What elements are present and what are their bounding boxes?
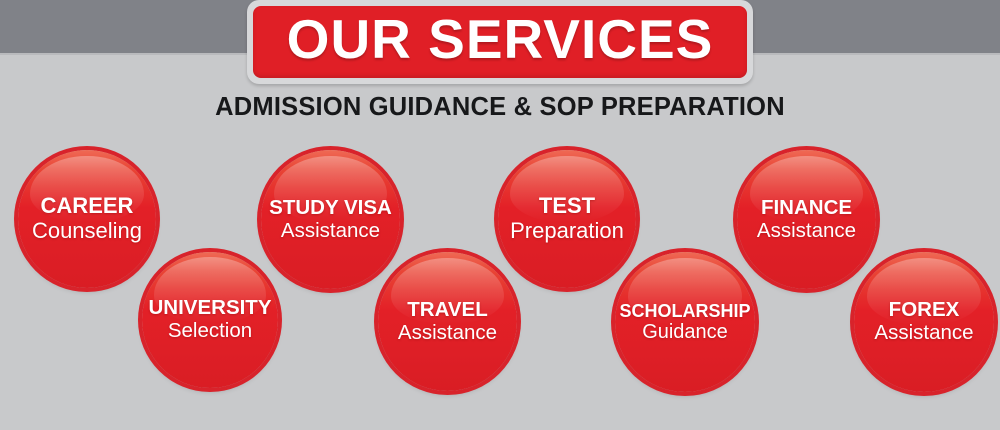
service-subtitle: Guidance <box>620 321 751 343</box>
service-title: TRAVEL <box>398 299 497 322</box>
title-plate: OUR SERVICES <box>253 6 748 78</box>
service-bubble-travel-assistance[interactable]: TRAVEL Assistance <box>378 252 517 391</box>
service-bubble-test-preparation[interactable]: TEST Preparation <box>498 150 636 288</box>
service-subtitle: Preparation <box>510 219 624 244</box>
service-subtitle: Assistance <box>269 220 392 243</box>
service-title: FINANCE <box>757 197 856 220</box>
service-subtitle: Selection <box>148 320 271 343</box>
service-bubble-study-visa-assistance[interactable]: STUDY VISA Assistance <box>261 150 400 289</box>
service-label: TRAVEL Assistance <box>392 299 503 345</box>
service-bubble-finance-assistance[interactable]: FINANCE Assistance <box>737 150 876 289</box>
service-title: CAREER <box>32 194 142 219</box>
service-subtitle: Assistance <box>398 322 497 345</box>
service-subtitle: Assistance <box>757 220 856 243</box>
service-label: TEST Preparation <box>504 194 630 243</box>
service-label: SCHOLARSHIP Guidance <box>614 301 757 344</box>
service-subtitle: Counseling <box>32 219 142 244</box>
service-label: FOREX Assistance <box>868 299 979 345</box>
service-label: CAREER Counseling <box>26 194 148 243</box>
page-subtitle: ADMISSION GUIDANCE & SOP PREPARATION <box>0 93 1000 122</box>
service-bubble-scholarship-guidance[interactable]: SCHOLARSHIP Guidance <box>615 252 755 392</box>
service-bubble-career-counseling[interactable]: CAREER Counseling <box>18 150 156 288</box>
poster-header: OUR SERVICES ADMISSION GUIDANCE & SOP PR… <box>0 0 1000 122</box>
title-plate-frame: OUR SERVICES <box>247 0 754 84</box>
service-title: FOREX <box>874 299 973 322</box>
service-label: UNIVERSITY Selection <box>142 297 277 343</box>
service-title: SCHOLARSHIP <box>620 301 751 321</box>
service-label: FINANCE Assistance <box>751 197 862 243</box>
service-title: UNIVERSITY <box>148 297 271 320</box>
service-title: TEST <box>510 194 624 219</box>
service-title: STUDY VISA <box>269 197 392 220</box>
service-bubble-forex-assistance[interactable]: FOREX Assistance <box>854 252 994 392</box>
service-label: STUDY VISA Assistance <box>263 197 398 243</box>
service-subtitle: Assistance <box>874 322 973 345</box>
page-title: OUR SERVICES <box>287 12 714 67</box>
services-poster: OUR SERVICES ADMISSION GUIDANCE & SOP PR… <box>0 0 1000 430</box>
service-bubble-university-selection[interactable]: UNIVERSITY Selection <box>142 252 278 388</box>
